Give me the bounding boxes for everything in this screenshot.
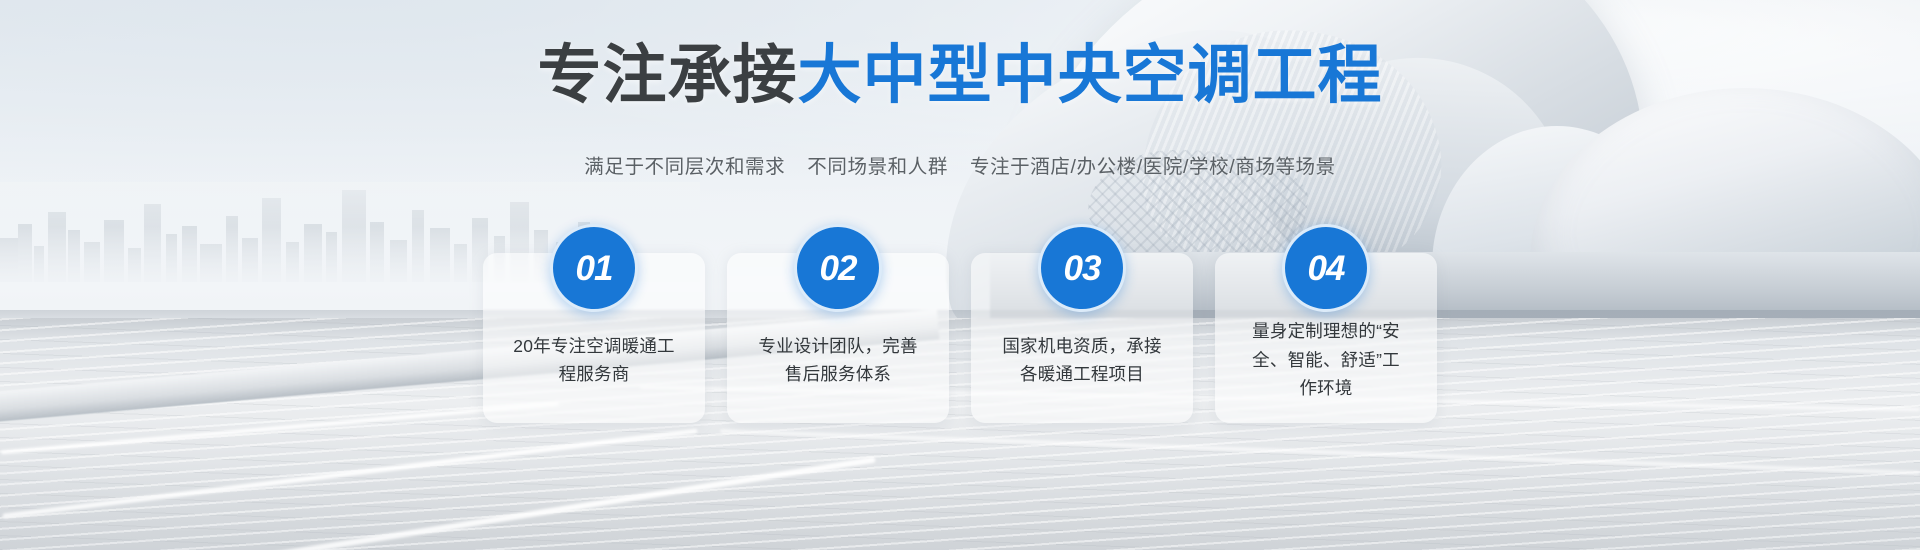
feature-card-line: 国家机电资质，承接 bbox=[1002, 332, 1161, 360]
feature-card[interactable]: 04 量身定制理想的“安 全、智能、舒适”工 作环境 bbox=[1215, 253, 1437, 423]
subheadline-phrase-2: 不同场景和人群 bbox=[807, 156, 948, 178]
feature-card-line: 售后服务体系 bbox=[758, 360, 917, 388]
feature-number-badge: 01 bbox=[550, 224, 638, 312]
feature-number: 02 bbox=[820, 251, 857, 286]
feature-card-line: 量身定制理想的“安 bbox=[1252, 317, 1400, 345]
feature-card-text: 国家机电资质，承接 各暖通工程项目 bbox=[986, 332, 1177, 389]
headline: 专注承接大中型中央空调工程 bbox=[0, 36, 1920, 114]
subheadline-phrase-1: 满足于不同层次和需求 bbox=[584, 156, 785, 178]
headline-dark-text: 专注承接 bbox=[538, 39, 798, 111]
feature-card[interactable]: 03 国家机电资质，承接 各暖通工程项目 bbox=[971, 253, 1193, 423]
feature-card[interactable]: 02 专业设计团队，完善 售后服务体系 bbox=[727, 253, 949, 423]
feature-number-badge: 02 bbox=[794, 224, 882, 312]
feature-card-line: 程服务商 bbox=[513, 360, 674, 388]
feature-card-text: 20年专注空调暖通工 程服务商 bbox=[497, 332, 690, 389]
feature-card-line: 作环境 bbox=[1252, 374, 1400, 402]
feature-card-text: 专业设计团队，完善 售后服务体系 bbox=[742, 332, 933, 389]
feature-number-badge: 04 bbox=[1282, 224, 1370, 312]
feature-card-list: 01 20年专注空调暖通工 程服务商 02 专业设计团队，完善 售后服务体系 0… bbox=[0, 253, 1920, 423]
feature-card-line: 20年专注空调暖通工 bbox=[513, 332, 674, 360]
feature-card-text: 量身定制理想的“安 全、智能、舒适”工 作环境 bbox=[1236, 317, 1416, 402]
feature-card-line: 全、智能、舒适”工 bbox=[1252, 346, 1400, 374]
feature-card[interactable]: 01 20年专注空调暖通工 程服务商 bbox=[483, 253, 705, 423]
feature-number-badge: 03 bbox=[1038, 224, 1126, 312]
headline-accent-text: 大中型中央空调工程 bbox=[798, 39, 1383, 111]
hero-banner: 专注承接大中型中央空调工程 满足于不同层次和需求不同场景和人群专注于酒店/办公楼… bbox=[0, 0, 1920, 550]
feature-number: 03 bbox=[1064, 251, 1101, 286]
feature-card-line: 各暖通工程项目 bbox=[1002, 360, 1161, 388]
feature-number: 01 bbox=[576, 251, 613, 286]
feature-number: 04 bbox=[1308, 251, 1345, 286]
subheadline-phrase-3: 专注于酒店/办公楼/医院/学校/商场等场景 bbox=[970, 156, 1336, 178]
feature-card-line: 专业设计团队，完善 bbox=[758, 332, 917, 360]
subheadline: 满足于不同层次和需求不同场景和人群专注于酒店/办公楼/医院/学校/商场等场景 bbox=[0, 150, 1920, 179]
